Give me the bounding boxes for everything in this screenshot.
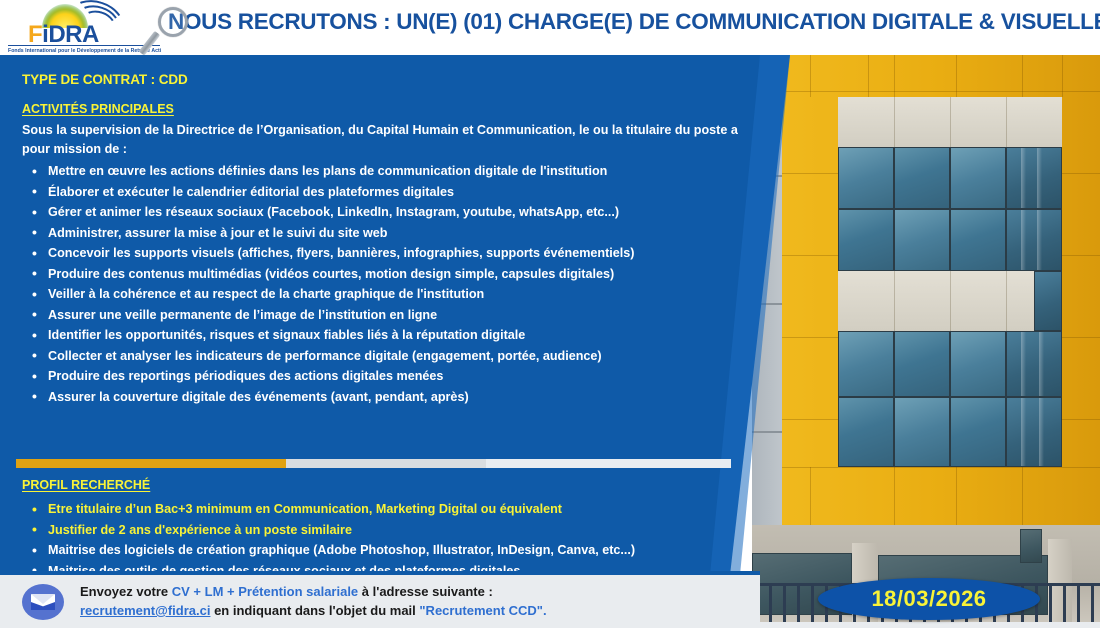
fidra-logo: FiDRA Fonds International pour le Dévelo…	[6, 2, 156, 52]
footer-send-text: Envoyez votre	[80, 584, 172, 599]
mission-intro-text: Sous la supervision de la Directrice de …	[22, 121, 762, 158]
page-title: NOUS RECRUTONS : UN(E) (01) CHARGE(E) DE…	[168, 9, 1090, 35]
list-item: Assurer la couverture digitale des événe…	[26, 387, 635, 408]
footer-line-2: recrutement@fidra.ci en indiquant dans l…	[80, 603, 547, 618]
list-item: Produire des contenus multimédias (vidéo…	[26, 264, 635, 285]
curtain-wall-opening	[838, 97, 1062, 467]
activities-list: Mettre en œuvre les actions définies dan…	[26, 161, 635, 407]
list-item: Concevoir les supports visuels (affiches…	[26, 243, 635, 264]
footer-right-edge	[760, 622, 1100, 628]
footer-subject-value: "Recrutement CCD".	[419, 603, 546, 618]
section-divider	[16, 459, 731, 468]
deadline-badge: 18/03/2026	[818, 578, 1040, 620]
list-item: Élaborer et exécuter le calendrier édito…	[26, 182, 635, 203]
list-item: Identifier les opportunités, risques et …	[26, 325, 635, 346]
footer-line-1: Envoyez votre CV + LM + Prétention salar…	[80, 584, 493, 599]
logo-wordmark-f: F	[28, 21, 42, 48]
contract-type-label: TYPE DE CONTRAT : CDD	[22, 72, 188, 87]
list-item: Produire des reportings périodiques des …	[26, 366, 635, 387]
envelope-icon	[22, 584, 64, 620]
list-item: Assurer une veille permanente de l’image…	[26, 305, 635, 326]
footer-address-text: à l'adresse suivante :	[358, 584, 493, 599]
footer-top-strip	[0, 571, 760, 575]
deadline-date: 18/03/2026	[871, 586, 986, 612]
magnifying-glass-icon	[150, 6, 196, 52]
activities-heading: ACTIVITÉS PRINCIPALES	[22, 102, 174, 116]
building-facade	[782, 55, 1100, 525]
profile-heading: PROFIL RECHERCHÉ	[22, 478, 150, 492]
job-details-panel: TYPE DE CONTRAT : CDD ACTIVITÉS PRINCIPA…	[0, 55, 790, 575]
list-item: Gérer et animer les réseaux sociaux (Fac…	[26, 202, 635, 223]
list-item: Mettre en œuvre les actions définies dan…	[26, 161, 635, 182]
logo-tagline: Fonds International pour le Développemen…	[8, 45, 160, 54]
recruitment-email-link[interactable]: recrutement@fidra.ci	[80, 603, 210, 618]
logo-wordmark-rest: iDRA	[42, 21, 99, 48]
footer-subject-text: en indiquant dans l'objet du mail	[210, 603, 419, 618]
page-header: FiDRA Fonds International pour le Dévelo…	[0, 0, 1100, 55]
list-item: Collecter et analyser les indicateurs de…	[26, 346, 635, 367]
list-item: Maitrise des logiciels de création graph…	[26, 540, 635, 561]
footer-documents-required: CV + LM + Prétention salariale	[172, 584, 358, 599]
building-photo	[752, 55, 1100, 628]
contact-footer: Envoyez votre CV + LM + Prétention salar…	[0, 575, 760, 628]
list-item: Veiller à la cohérence et au respect de …	[26, 284, 635, 305]
list-item: Justifier de 2 ans d'expérience à un pos…	[26, 520, 635, 541]
list-item: Administrer, assurer la mise à jour et l…	[26, 223, 635, 244]
list-item: Etre titulaire d’un Bac+3 minimum en Com…	[26, 499, 635, 520]
